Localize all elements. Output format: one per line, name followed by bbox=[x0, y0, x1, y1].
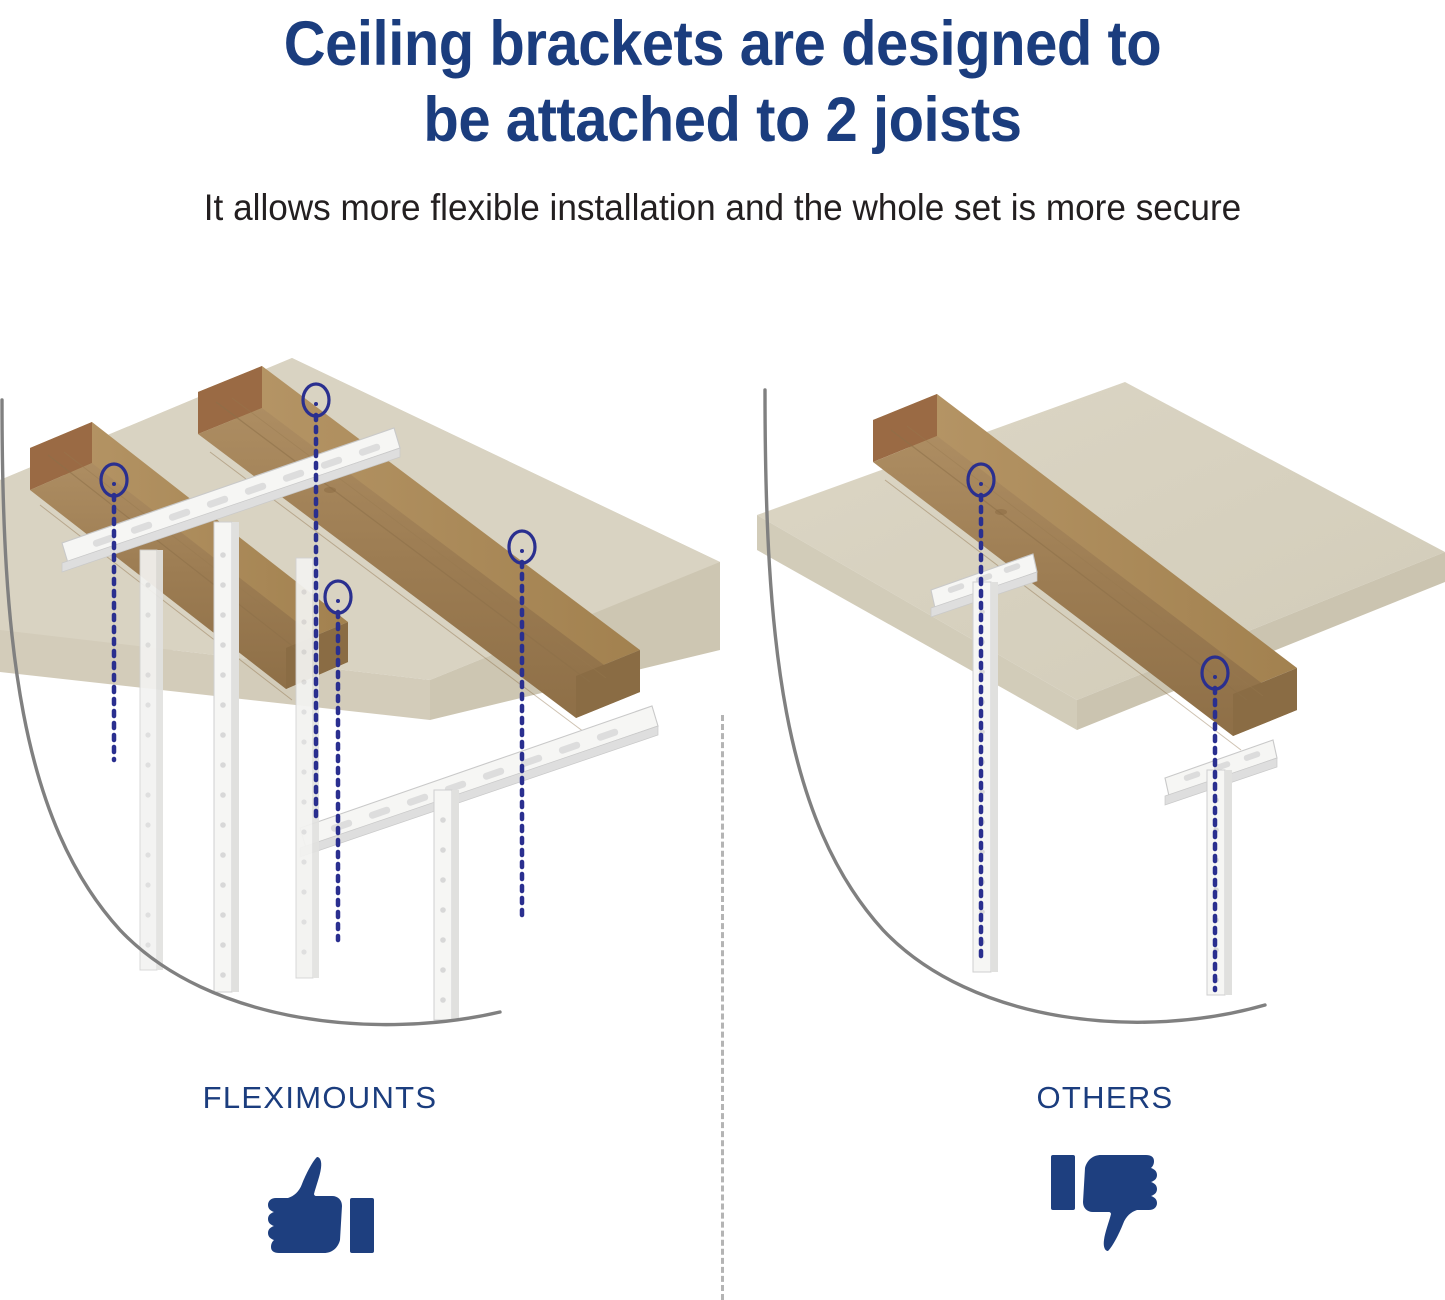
others-column: OTHERS bbox=[855, 1080, 1355, 1254]
fleximounts-illustration bbox=[0, 300, 720, 1060]
others-label: OTHERS bbox=[855, 1080, 1355, 1116]
vertical-post-1 bbox=[140, 550, 163, 970]
header: Ceiling brackets are designed to be atta… bbox=[0, 0, 1445, 230]
page-subtitle: It allows more flexible installation and… bbox=[36, 158, 1409, 230]
vertical-post-1 bbox=[973, 582, 998, 972]
fleximounts-column: FLEXIMOUNTS bbox=[70, 1080, 570, 1254]
footer: FLEXIMOUNTS OTHERS bbox=[0, 1080, 1445, 1277]
thumbs-up-icon bbox=[70, 1154, 570, 1254]
title-line-2: be attached to 2 joists bbox=[423, 85, 1021, 155]
title-line-1: Ceiling brackets are designed to bbox=[284, 9, 1161, 79]
infographic-page: Ceiling brackets are designed to be atta… bbox=[0, 0, 1445, 1277]
page-title: Ceiling brackets are designed to be atta… bbox=[58, 0, 1387, 158]
others-illustration bbox=[725, 300, 1445, 1060]
vertical-post-4 bbox=[434, 790, 459, 1020]
illustration-area bbox=[0, 300, 1445, 1060]
bracket-rail-2 bbox=[300, 706, 658, 857]
thumbs-down-icon bbox=[855, 1154, 1355, 1254]
fleximounts-label: FLEXIMOUNTS bbox=[70, 1080, 570, 1116]
vertical-post-2 bbox=[1207, 770, 1232, 995]
vertical-post-2 bbox=[214, 522, 239, 992]
